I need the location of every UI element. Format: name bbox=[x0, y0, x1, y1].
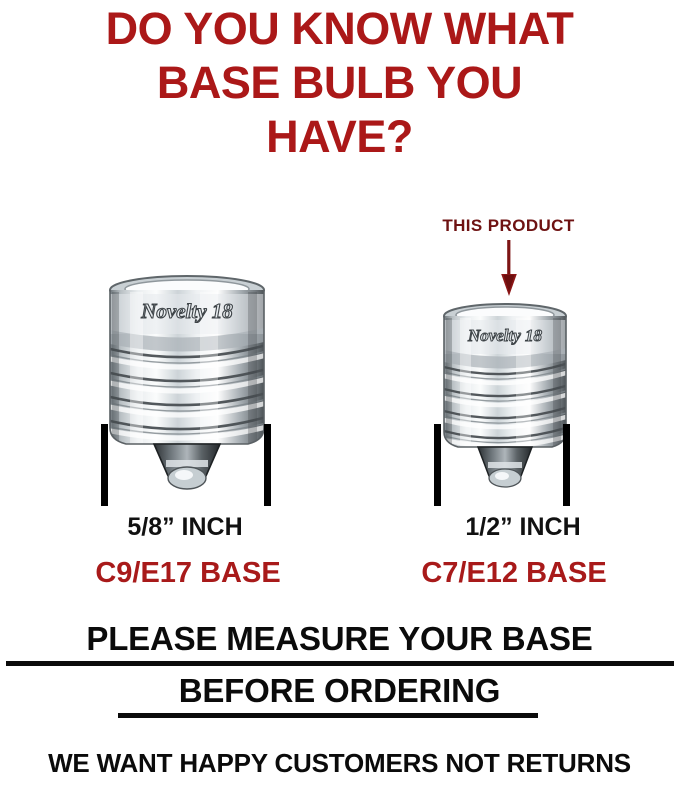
measure-bar-right-start bbox=[434, 424, 441, 506]
instruction-underline-1 bbox=[6, 661, 674, 666]
measurement-label-left: 5/8” INCH bbox=[60, 513, 310, 542]
page-title-line-1: DO YOU KNOW WHAT bbox=[0, 2, 679, 56]
measure-bar-left-end bbox=[264, 424, 271, 506]
base-type-label-right: C7/E12 BASE bbox=[374, 557, 654, 590]
instruction-underline-2 bbox=[118, 713, 538, 718]
measure-bar-right-end bbox=[563, 424, 570, 506]
measure-bar-left-start bbox=[101, 424, 108, 506]
instruction-line-3: WE WANT HAPPY CUSTOMERS NOT RETURNS bbox=[0, 748, 679, 779]
page-title-line-2: BASE BULB YOU bbox=[0, 56, 679, 110]
bulb-base-image-right: Novelty 18 bbox=[432, 296, 578, 500]
instruction-line-1: PLEASE MEASURE YOUR BASE bbox=[0, 620, 679, 658]
page-title-line-3: HAVE? bbox=[0, 110, 679, 164]
arrow-down-icon bbox=[498, 240, 520, 296]
bulb-engraving-right: Novelty 18 bbox=[467, 326, 543, 345]
instruction-line-2: BEFORE ORDERING bbox=[0, 672, 679, 710]
bulb-engraving-left: Novelty 18 bbox=[140, 299, 233, 323]
infographic-page: DO YOU KNOW WHAT BASE BULB YOU HAVE? THI… bbox=[0, 0, 679, 786]
measurement-label-right: 1/2” INCH bbox=[398, 513, 648, 542]
page-title: DO YOU KNOW WHAT BASE BULB YOU HAVE? bbox=[0, 2, 679, 164]
bulb-base-image-left: Novelty 18 bbox=[96, 268, 278, 500]
base-type-label-left: C9/E17 BASE bbox=[48, 557, 328, 590]
this-product-label: THIS PRODUCT bbox=[386, 216, 631, 236]
